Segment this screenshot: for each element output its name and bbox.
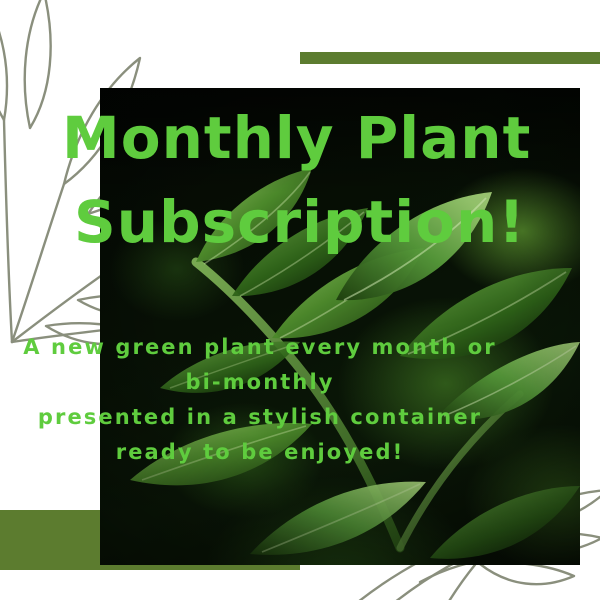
body-line-1: A new green plant every month or <box>0 330 520 365</box>
headline-line-2: Subscription! <box>74 180 542 264</box>
body-line-3: presented in a stylish container <box>0 400 520 435</box>
body-line-2: bi-monthly <box>0 365 520 400</box>
poster-canvas: Monthly Plant Subscription! A new green … <box>0 0 600 600</box>
accent-bar-top <box>300 52 600 64</box>
headline-line-1: Monthly Plant <box>62 96 542 180</box>
page-title: Monthly Plant Subscription! <box>62 96 542 264</box>
body-copy: A new green plant every month or bi-mont… <box>0 330 520 470</box>
body-line-4: ready to be enjoyed! <box>0 435 520 470</box>
